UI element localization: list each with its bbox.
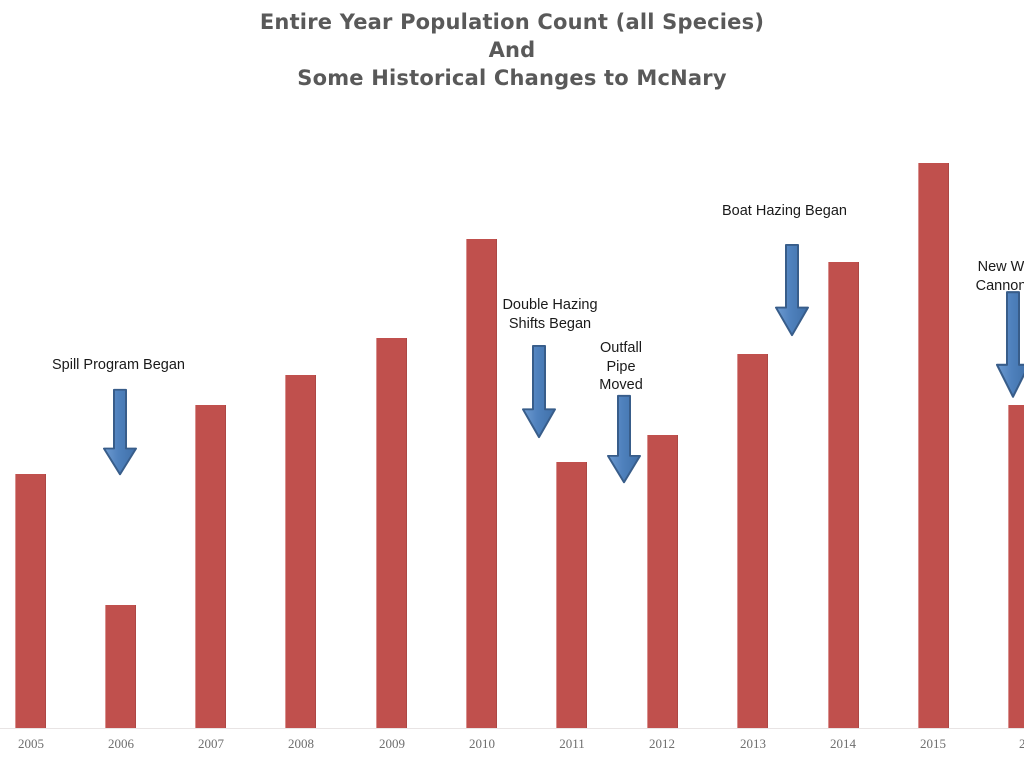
- plot-area: 2005200620072008200920102011201220132014…: [0, 0, 1024, 768]
- bar-2012[interactable]: [647, 435, 678, 728]
- annotation-line: Pipe: [591, 358, 651, 377]
- bar-2005[interactable]: [15, 474, 46, 728]
- x-tick-2015: 2015: [893, 736, 973, 752]
- down-arrow-icon-double-hazing-shifts: [522, 344, 556, 440]
- x-tick-2013: 2013: [713, 736, 793, 752]
- x-tick-2012: 2012: [622, 736, 702, 752]
- x-tick-2008: 2008: [261, 736, 341, 752]
- annotation-label-boat-hazing: Boat Hazing Began: [722, 202, 846, 221]
- bar-2006[interactable]: [105, 605, 136, 728]
- bar-2011[interactable]: [556, 462, 587, 728]
- bar-2013[interactable]: [737, 354, 768, 728]
- bar-2008[interactable]: [285, 375, 316, 728]
- annotation-line: Boat Hazing Began: [722, 202, 846, 221]
- x-tick-2011: 2011: [532, 736, 612, 752]
- bar-2016[interactable]: [1008, 405, 1024, 728]
- annotation-line: Spill Program Began: [52, 356, 180, 375]
- annotation-line: Moved: [591, 376, 651, 395]
- down-arrow-icon-boat-hazing: [775, 243, 809, 338]
- annotation-line: Shifts Began: [492, 315, 608, 334]
- x-tick-2009: 2009: [352, 736, 432, 752]
- x-axis-line: [0, 728, 1024, 729]
- x-tick-2010: 2010: [442, 736, 522, 752]
- bar-2009[interactable]: [376, 338, 407, 728]
- x-tick-2007: 2007: [171, 736, 251, 752]
- bar-2015[interactable]: [918, 163, 949, 728]
- annotation-line: Double Hazing: [492, 296, 608, 315]
- annotation-label-outfall-pipe-moved: OutfallPipeMoved: [591, 339, 651, 395]
- bar-2014[interactable]: [828, 262, 859, 728]
- bar-2007[interactable]: [195, 405, 226, 728]
- annotation-line: Outfall: [591, 339, 651, 358]
- annotation-line: New W: [968, 258, 1024, 277]
- x-tick-2014: 2014: [803, 736, 883, 752]
- down-arrow-icon-new-water-cannons: [996, 290, 1024, 400]
- x-tick-2005: 2005: [0, 736, 71, 752]
- chart-canvas: Entire Year Population Count (all Specie…: [0, 0, 1024, 768]
- down-arrow-icon-outfall-pipe-moved: [607, 394, 641, 485]
- annotation-label-spill-program: Spill Program Began: [52, 356, 180, 375]
- annotation-label-double-hazing-shifts: Double HazingShifts Began: [492, 296, 608, 333]
- x-tick-2006: 2006: [81, 736, 161, 752]
- down-arrow-icon-spill-program: [103, 388, 137, 477]
- x-tick-2016: 20: [1019, 736, 1024, 752]
